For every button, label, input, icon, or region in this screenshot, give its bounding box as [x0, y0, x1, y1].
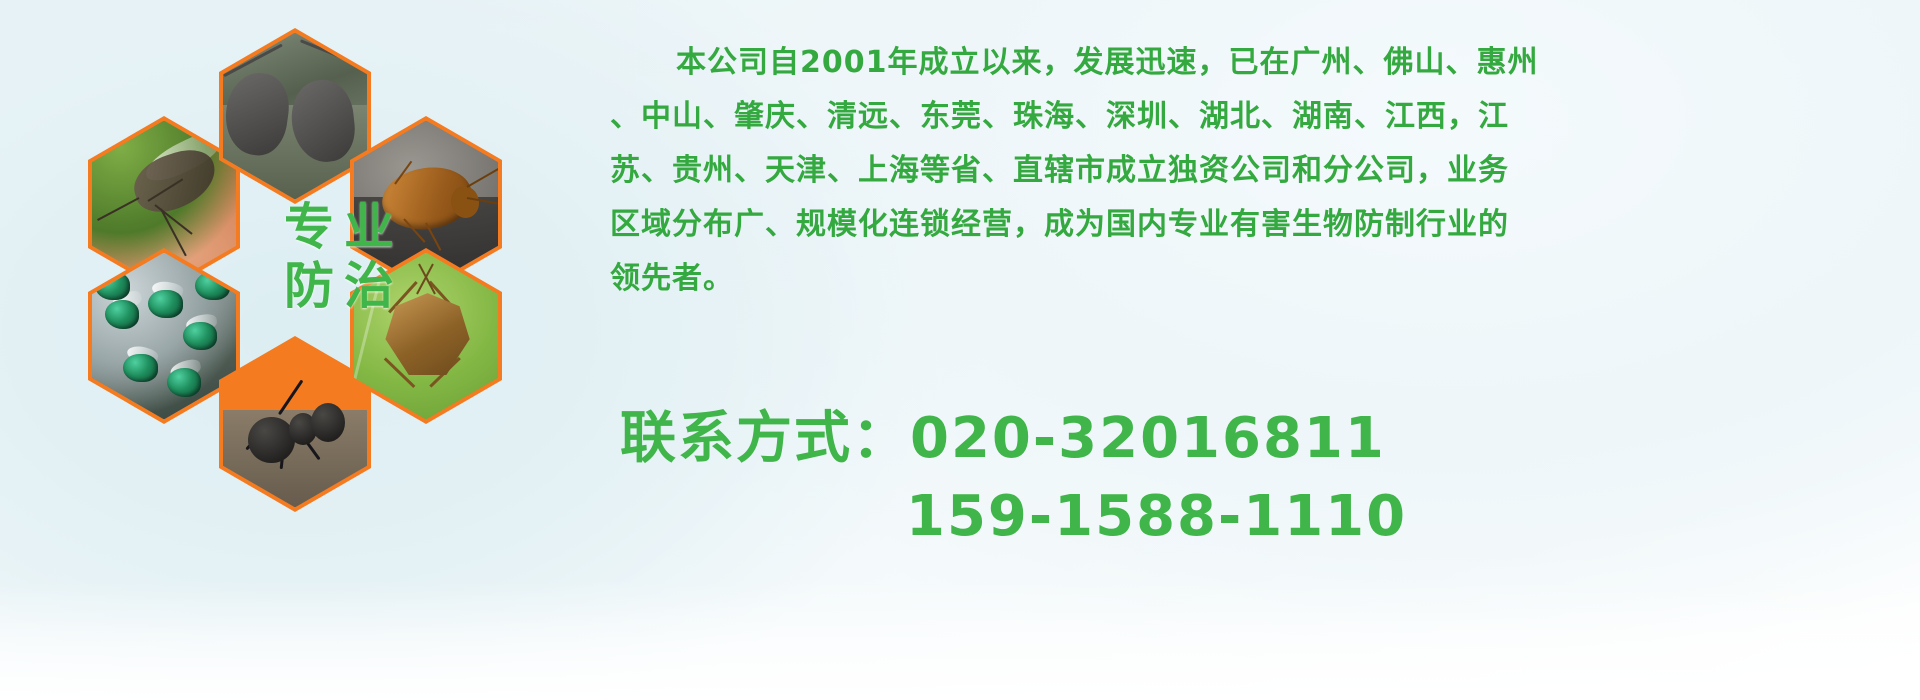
- intro-line-2: 、中山、肇庆、清远、东莞、珠海、深圳、湖北、湖南、江西，江: [610, 90, 1906, 144]
- hex-image-mask: [92, 253, 236, 420]
- rats-photo: [223, 33, 367, 200]
- hex-border: [219, 28, 371, 204]
- hex-border: [88, 248, 240, 424]
- ant-photo: [223, 341, 367, 508]
- hex-image-mask: [223, 33, 367, 200]
- hex-cell-ant[interactable]: [219, 336, 371, 512]
- hex-cell-stink-bug[interactable]: [350, 248, 502, 424]
- contact-phone-secondary[interactable]: 159-1588-1110: [620, 478, 1920, 556]
- intro-line-3: 苏、贵州、天津、上海等省、直辖市成立独资公司和分公司，业务: [610, 144, 1906, 198]
- stink-bug-photo: [354, 253, 498, 420]
- hex-border: [219, 336, 371, 512]
- company-intro-paragraph: 本公司自2001年成立以来，发展迅速，已在广州、佛山、惠州 、中山、肇庆、清远、…: [610, 36, 1906, 306]
- intro-line-4: 区域分布广、规模化连锁经营，成为国内专业有害生物防制行业的: [610, 198, 1906, 252]
- contact-phone-primary[interactable]: 联系方式：020-32016811: [620, 400, 1920, 478]
- intro-line-5: 领先者。: [610, 252, 1906, 306]
- hex-border: [350, 248, 502, 424]
- promo-banner: 专业 防治 本公司自2001年成立以来，发展迅速，已在广州、佛山、惠州 、中山、…: [0, 0, 1920, 700]
- honeycomb-image-cluster: 专业 防治: [88, 8, 588, 568]
- hex-image-mask: [354, 253, 498, 420]
- flies-photo: [92, 253, 236, 420]
- hex-image-mask: [223, 341, 367, 508]
- intro-line-1: 本公司自2001年成立以来，发展迅速，已在广州、佛山、惠州: [610, 36, 1906, 90]
- contact-block: 联系方式：020-32016811 159-1588-1110: [620, 400, 1920, 556]
- hex-cell-flies[interactable]: [88, 248, 240, 424]
- hex-cell-rats[interactable]: [219, 28, 371, 204]
